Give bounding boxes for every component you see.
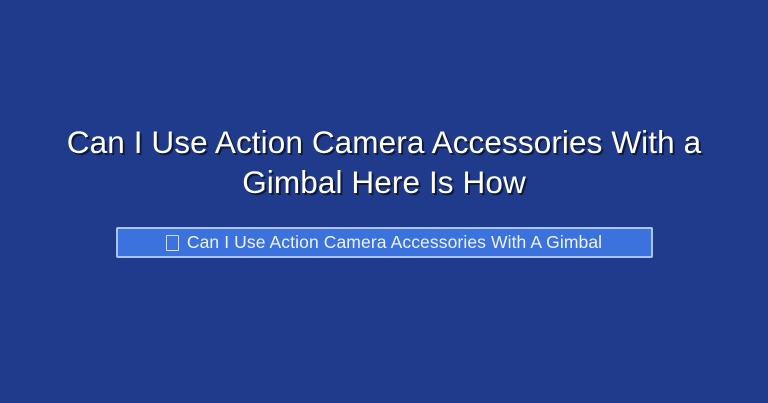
cta-banner-label: Can I Use Action Camera Accessories With… xyxy=(187,234,602,252)
cta-banner-button[interactable]: Can I Use Action Camera Accessories With… xyxy=(116,227,653,258)
hero-section: Can I Use Action Camera Accessories With… xyxy=(0,0,768,403)
page-root: Can I Use Action Camera Accessories With… xyxy=(0,0,768,403)
missing-glyph-box-icon xyxy=(166,235,179,251)
cta-container: Can I Use Action Camera Accessories With… xyxy=(0,227,768,258)
page-title: Can I Use Action Camera Accessories With… xyxy=(0,122,768,202)
